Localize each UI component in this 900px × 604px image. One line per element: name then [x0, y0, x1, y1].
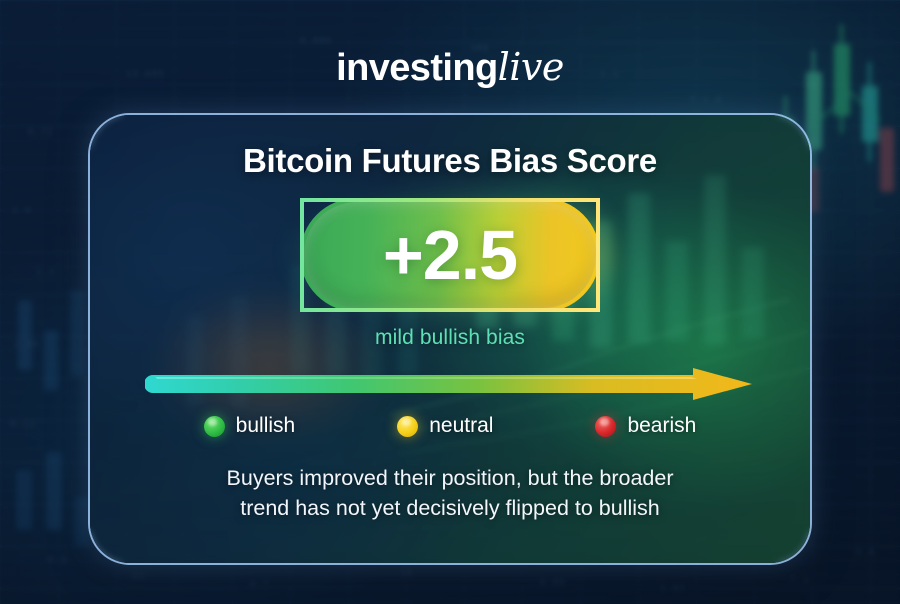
bias-label: mild bullish bias [375, 326, 525, 350]
red-circle-icon [595, 416, 616, 437]
right-arrow-icon [145, 367, 755, 401]
green-circle-icon [204, 416, 225, 437]
score-value: +2.5 [383, 220, 517, 290]
infographic-canvas: 13.695 0.006 388 1.1 0.71 71.08 45.39 T.… [0, 0, 900, 604]
bias-gradient-arrow [145, 367, 755, 401]
page-title: Bitcoin Futures Bias Score [243, 142, 657, 180]
bias-legend: bullish neutral bearish [204, 414, 697, 438]
legend-label-bearish: bearish [627, 414, 696, 438]
brand-name-bold: investing [336, 47, 497, 89]
legend-item-neutral: neutral [397, 414, 493, 438]
bias-score-card: Bitcoin Futures Bias Score +2.5 mild bul… [88, 113, 812, 565]
summary-line-2: trend has not yet decisively flipped to … [155, 494, 745, 524]
score-pill: +2.5 [300, 198, 600, 312]
legend-label-neutral: neutral [429, 414, 493, 438]
summary-text: Buyers improved their position, but the … [155, 464, 745, 523]
brand-logo: investinglive [0, 48, 900, 87]
summary-line-1: Buyers improved their position, but the … [155, 464, 745, 494]
yellow-circle-icon [397, 416, 418, 437]
score-pill-container: +2.5 [300, 198, 600, 312]
legend-item-bearish: bearish [595, 414, 696, 438]
legend-label-bullish: bullish [236, 414, 296, 438]
legend-item-bullish: bullish [204, 414, 296, 438]
brand-name-italic: live [498, 45, 564, 89]
